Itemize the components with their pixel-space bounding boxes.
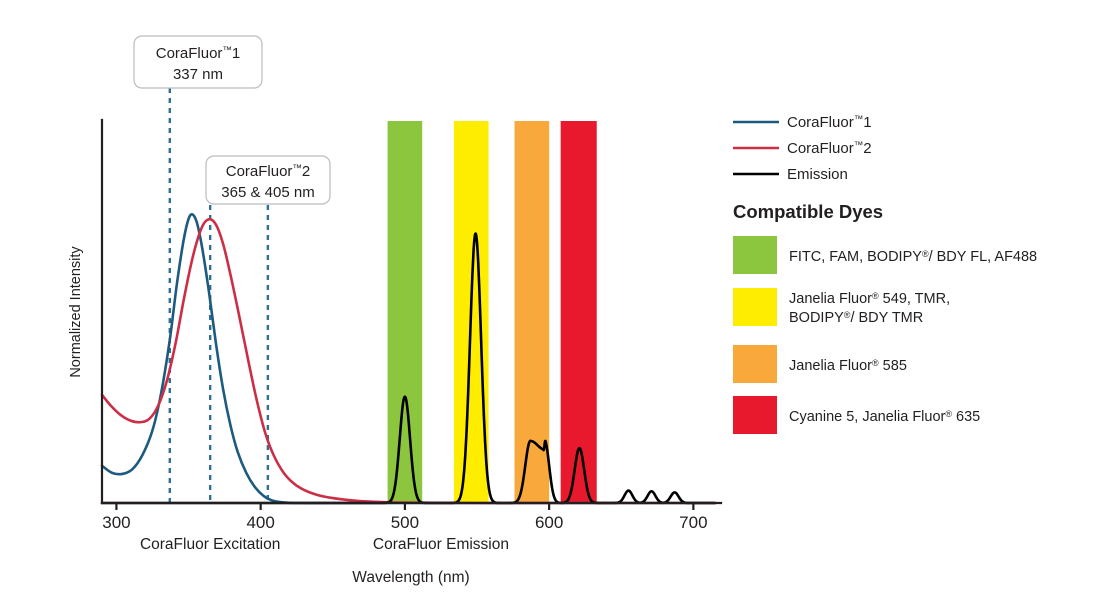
dye-swatch-1	[733, 288, 777, 326]
x-axis-title: Wavelength (nm)	[352, 569, 469, 586]
callout-corafluor-2: CoraFluor™2365 & 405 nm	[206, 156, 330, 204]
x-tick-label-600: 600	[535, 513, 563, 532]
x-tick-label-400: 400	[246, 513, 274, 532]
dye-swatch-3	[733, 396, 777, 434]
dye-label-2-line-0: Janelia Fluor® 585	[789, 358, 907, 374]
dye-label-0-line-0: FITC, FAM, BODIPY®/ BDY FL, AF488	[789, 249, 1037, 265]
emission-band-0	[388, 121, 423, 503]
emission-band-3	[561, 121, 597, 503]
dye-swatch-2	[733, 345, 777, 383]
spectra-figure: 300400500600700CoraFluor ExcitationCoraF…	[0, 0, 1110, 612]
x-tick-label-300: 300	[102, 513, 130, 532]
dye-label-3-line-0: Cyanine 5, Janelia Fluor® 635	[789, 409, 980, 425]
x-tick-label-500: 500	[391, 513, 419, 532]
callout-corafluor-1: CoraFluor™1337 nm	[134, 36, 262, 88]
region-label-1: CoraFluor Emission	[373, 536, 509, 553]
legend-label-2: Emission	[787, 166, 848, 183]
dye-label-1-line-0: Janelia Fluor® 549, TMR,	[789, 291, 950, 307]
callout-value: 365 & 405 nm	[221, 184, 314, 201]
compatible-dyes-heading: Compatible Dyes	[733, 201, 883, 222]
dye-swatch-0	[733, 236, 777, 274]
dye-label-1-line-1: BODIPY®/ BDY TMR	[789, 310, 923, 326]
region-label-0: CoraFluor Excitation	[140, 536, 280, 553]
x-tick-label-700: 700	[679, 513, 707, 532]
y-axis-title: Normalized Intensity	[68, 246, 84, 378]
callout-value: 337 nm	[173, 66, 223, 83]
